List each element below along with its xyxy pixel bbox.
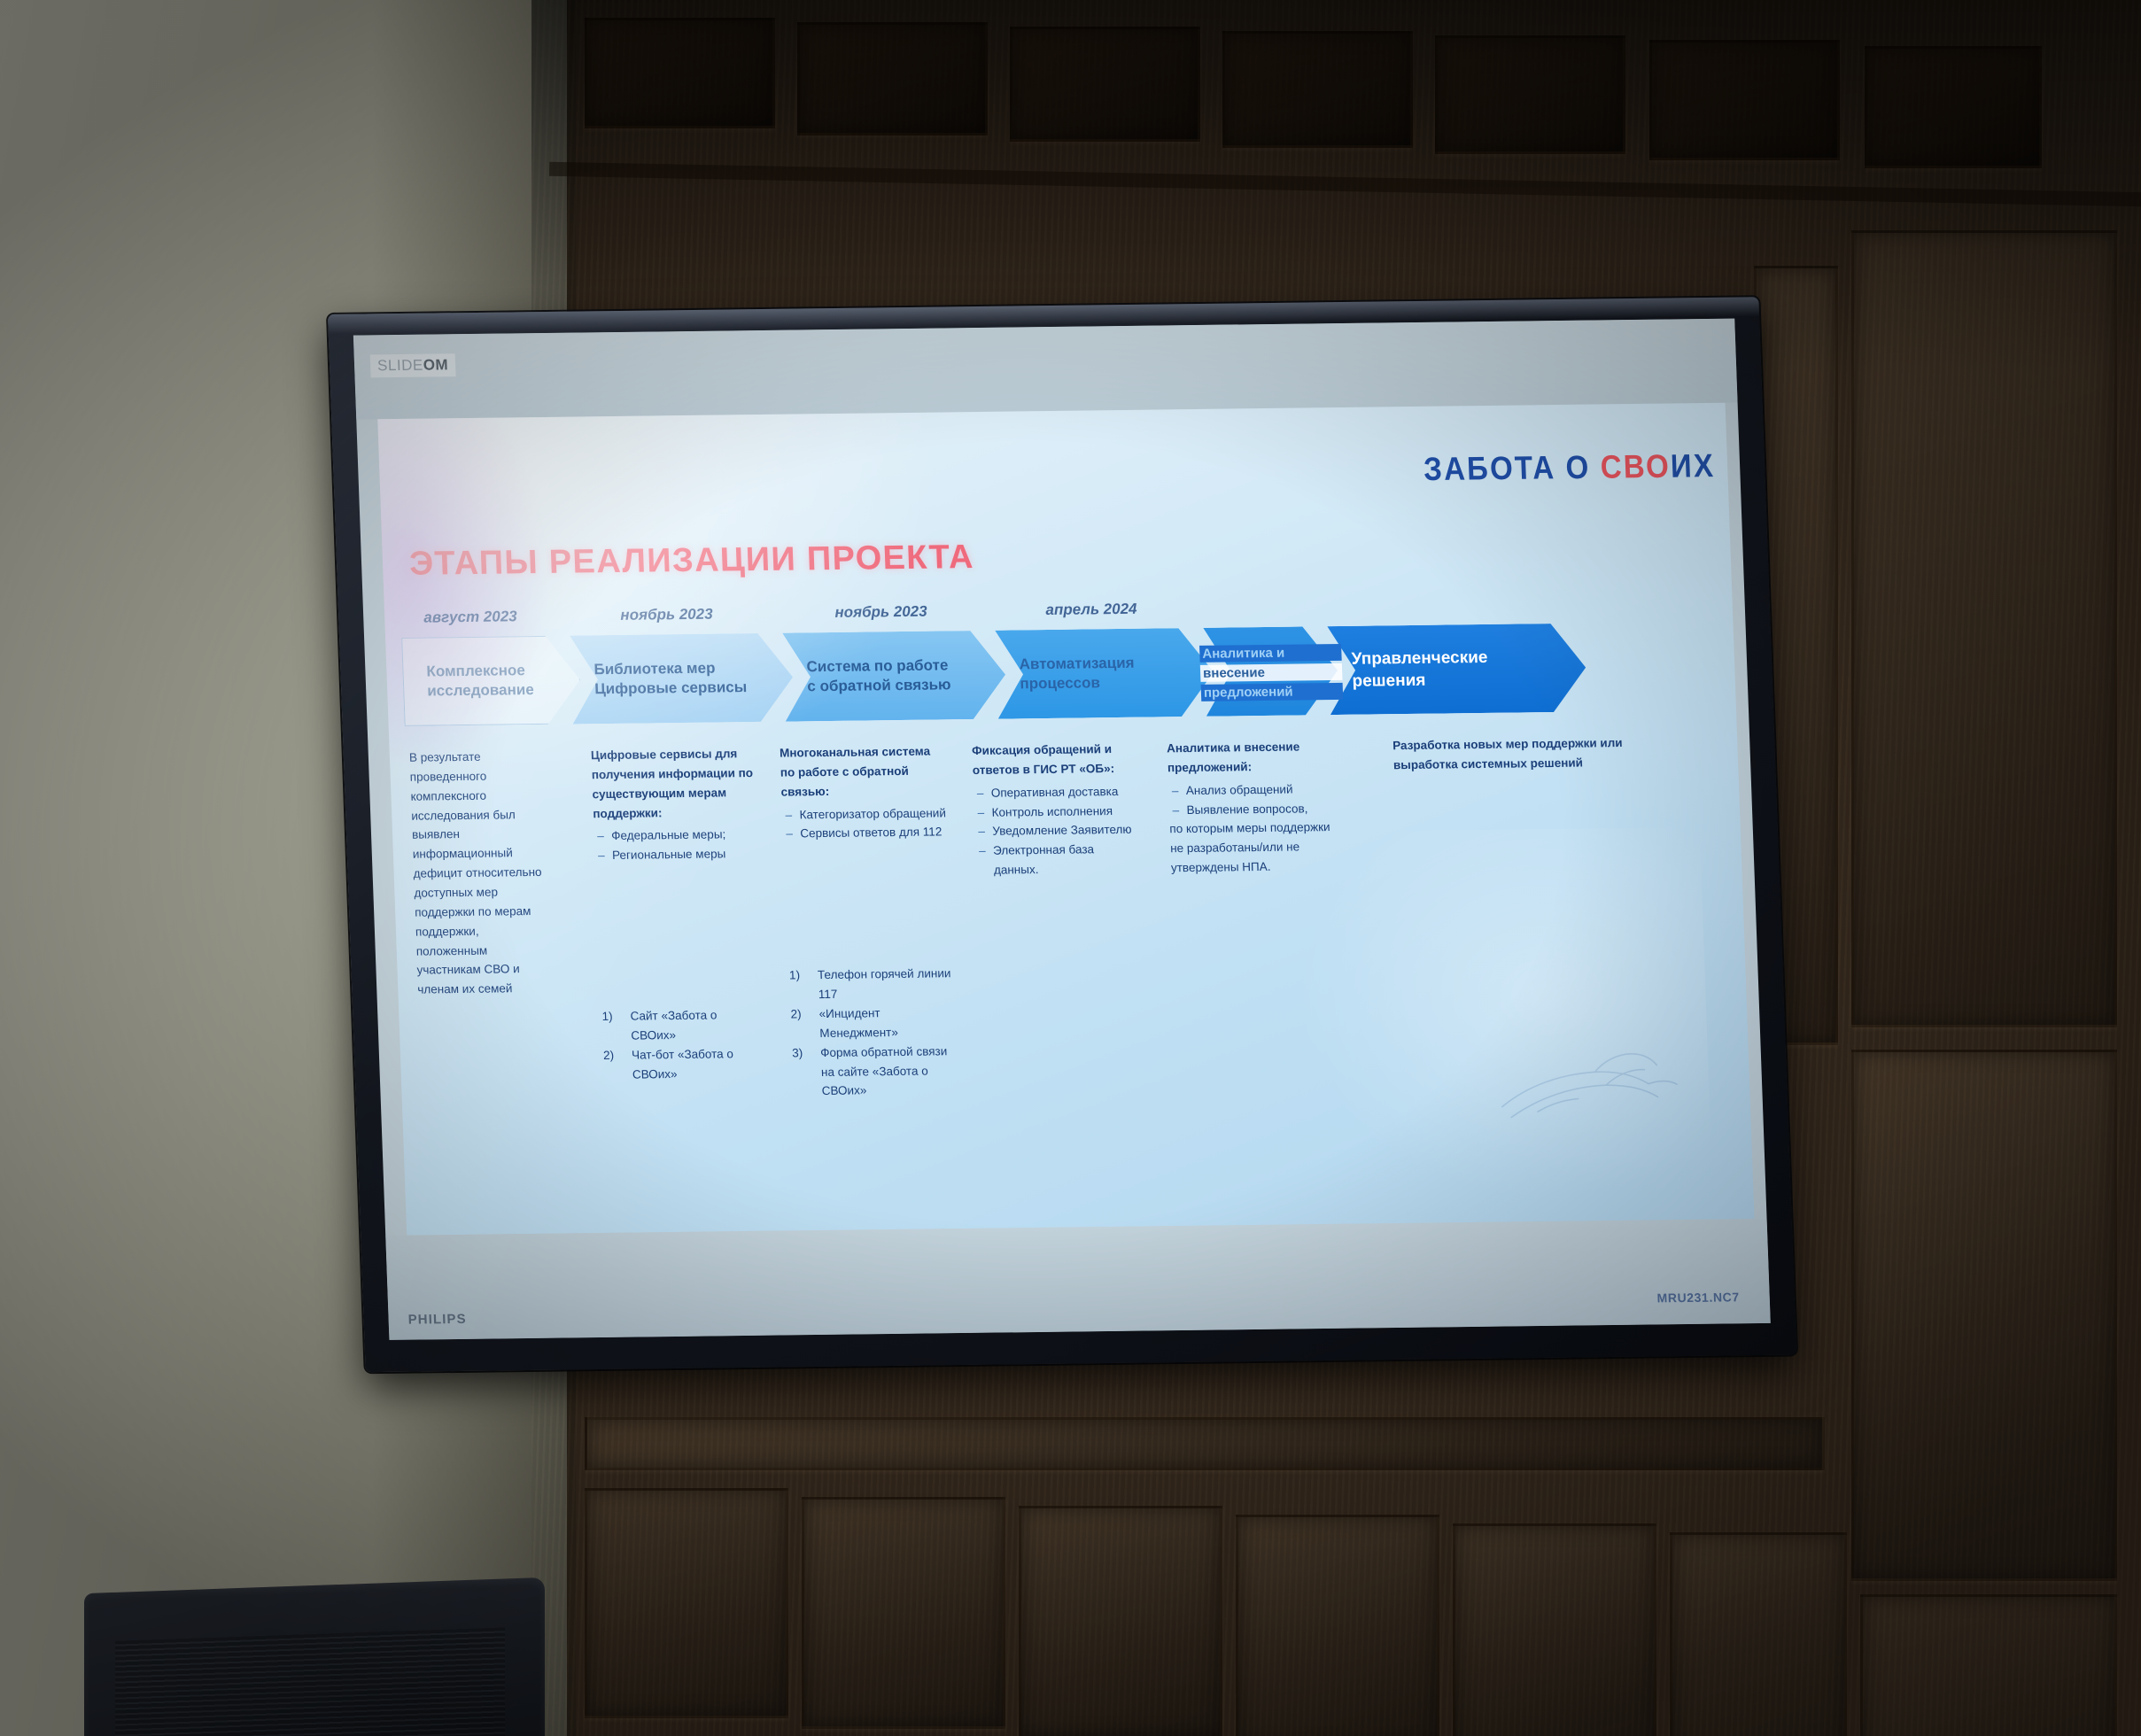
timeline-date: апрель 2024 <box>1045 601 1137 619</box>
bullet-item: Федеральные меры; <box>593 825 758 846</box>
slide-column-1: В результате проведенного комплексного и… <box>409 747 551 1000</box>
timeline-stage-label: Автоматизация процессов <box>1019 653 1135 694</box>
column-tail: по которым меры поддержки не разработаны… <box>1169 818 1339 878</box>
timeline-stage-label: Управленческие решения <box>1351 647 1489 693</box>
numbered-item: Чат-бот «Забота о СВОих» <box>601 1044 767 1085</box>
column-numbered-list: Телефон горячей линии 117 «Инцидент Мене… <box>787 964 961 1101</box>
slide-column-5: Аналитика и внесение предложений: Анализ… <box>1167 737 1340 878</box>
column-head: Аналитика и внесение предложений: <box>1167 737 1337 778</box>
wood-panel <box>585 1417 1825 1470</box>
slide-column-2: Цифровые сервисы для получения информаци… <box>591 744 767 1085</box>
bullet-item: Региональные меры <box>594 844 759 865</box>
timeline-date: август 2023 <box>423 608 517 626</box>
wood-panel <box>1860 1594 2117 1736</box>
wood-panel <box>1453 1523 1656 1736</box>
timeline-stage-6[interactable]: Управленческие решения <box>1327 624 1587 715</box>
zabota-o-svoih-logo: ЗАБОТА О СВОИХ <box>1423 447 1715 489</box>
bullet-item: Оперативная доставка <box>973 782 1133 803</box>
room-photo-scene: SLIDEOM ЗАБОТА О СВОИХ ЭТАПЫ РЕАЛИЗАЦИИ … <box>0 0 2141 1736</box>
wood-panel <box>1019 1506 1222 1736</box>
viewer-brand: SLIDEOM <box>370 353 456 377</box>
timeline-stage-2[interactable]: Библиотека мер Цифровые сервисы <box>570 633 795 725</box>
wood-panel <box>1236 1515 1439 1736</box>
tv-screen[interactable]: SLIDEOM ЗАБОТА О СВОИХ ЭТАПЫ РЕАЛИЗАЦИИ … <box>353 319 1771 1340</box>
bullet-item: Контроль исполнения <box>974 801 1134 822</box>
column-bullets: Категоризатор обращений Сервисы ответов … <box>781 803 951 844</box>
bullet-item: Уведомление Заявителю <box>974 820 1135 841</box>
numbered-item: Форма обратной связи на сайте «Забота о … <box>790 1042 960 1102</box>
timeline: август 2023 ноябрь 2023 ноябрь 2023 апре… <box>400 593 1751 732</box>
slide-column-3: Многоканальная система по работе с обрат… <box>780 741 961 1101</box>
column-head: Многоканальная система по работе с обрат… <box>780 741 950 802</box>
bullet-item: Категоризатор обращений <box>781 803 950 825</box>
speaker-grill <box>115 1627 505 1736</box>
timeline-highlight-overlay: Аналитика и внесение предложений <box>1199 633 1344 711</box>
timeline-stage-label: Комплексное исследование <box>426 661 534 701</box>
bullet-item: Электронная база данных. <box>975 840 1136 880</box>
column-head: Фиксация обращений и ответов в ГИС РТ «О… <box>972 740 1133 780</box>
timeline-stage-4[interactable]: Автоматизация процессов <box>995 628 1215 719</box>
timeline-date: ноябрь 2023 <box>620 606 713 624</box>
philips-brand-label: PHILIPS <box>407 1312 467 1328</box>
column-bullets: Анализ обращений Выявление вопросов, <box>1167 779 1338 820</box>
highlight-line-3: предложений <box>1201 682 1344 701</box>
slide-column-4: Фиксация обращений и ответов в ГИС РТ «О… <box>972 740 1136 880</box>
highlight-line-1: Аналитика и <box>1199 643 1342 662</box>
slide-column-6: Разработка новых мер поддержки или выраб… <box>1392 733 1660 775</box>
logo-part-blue-2: ИХ <box>1670 447 1716 484</box>
logo-part-blue-1: ЗАБОТА О <box>1423 448 1601 487</box>
viewer-brand-dim: SLIDE <box>377 357 423 375</box>
bullet-item: Сервисы ответов для 112 <box>782 823 951 844</box>
column-head: Цифровые сервисы для получения информаци… <box>591 744 757 824</box>
wood-panel-tall <box>1851 1050 2117 1581</box>
slide-body-columns: В результате проведенного комплексного и… <box>409 732 1744 1227</box>
column-numbered-list: Сайт «Забота о СВОих» Чат-бот «Забота о … <box>600 1005 766 1085</box>
wood-panel <box>1670 1532 1847 1736</box>
timeline-stage-3[interactable]: Система по работе с обратной связью <box>782 631 1007 722</box>
slide-title: ЭТАПЫ РЕАЛИЗАЦИИ ПРОЕКТА <box>408 539 974 584</box>
viewer-footer <box>385 1219 1771 1340</box>
wood-panel <box>585 1488 788 1718</box>
numbered-item: «Инцидент Менеджмент» <box>788 1003 958 1043</box>
wood-panel <box>802 1497 1005 1729</box>
presentation-slide: ЗАБОТА О СВОИХ ЭТАПЫ РЕАЛИЗАЦИИ ПРОЕКТА … <box>377 403 1754 1236</box>
column-bullets: Федеральные меры; Региональные меры <box>593 825 759 865</box>
column-head: Разработка новых мер поддержки или выраб… <box>1392 733 1660 775</box>
bullet-item: Анализ обращений <box>1167 779 1337 801</box>
numbered-item: Сайт «Забота о СВОих» <box>600 1005 765 1046</box>
timeline-date: ноябрь 2023 <box>834 603 927 622</box>
tv-model-label: MRU231.NC7 <box>1656 1290 1740 1305</box>
logo-part-red: СВО <box>1600 447 1672 484</box>
television[interactable]: SLIDEOM ЗАБОТА О СВОИХ ЭТАПЫ РЕАЛИЗАЦИИ … <box>328 297 1796 1372</box>
bullet-item: Выявление вопросов, <box>1168 799 1338 820</box>
timeline-stage-1[interactable]: Комплексное исследование <box>401 635 582 725</box>
numbered-item: Телефон горячей линии 117 <box>787 964 958 1004</box>
timeline-stage-label: Библиотека мер Цифровые сервисы <box>593 658 747 700</box>
column-bullets: Оперативная доставка Контроль исполнения… <box>973 782 1136 880</box>
column-body: В результате проведенного комплексного и… <box>409 747 551 1000</box>
highlight-line-2: внесение <box>1200 663 1343 681</box>
timeline-stage-label: Система по работе с обратной связью <box>806 655 951 697</box>
viewer-brand-strong: OM <box>423 356 448 373</box>
